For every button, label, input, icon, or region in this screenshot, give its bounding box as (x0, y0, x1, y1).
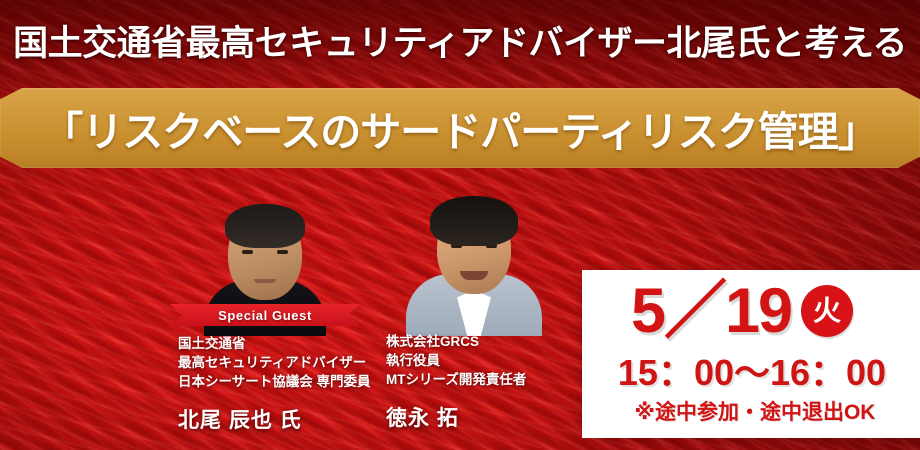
speaker-2-role: 株式会社GRCS 執行役員 MTシリーズ開発責任者 (386, 332, 526, 389)
speaker-2-photo (404, 176, 544, 336)
speaker-card-2: 株式会社GRCS 執行役員 MTシリーズ開発責任者 徳永 拓 (378, 176, 578, 336)
page-title: 国土交通省最高セキュリティアドバイザー北尾氏と考える (0, 12, 920, 68)
speaker-1-name: 北尾 辰也 氏 (178, 404, 302, 434)
event-date: 5／19 (631, 280, 791, 343)
speaker-2-collar (457, 290, 491, 336)
speaker-1-org-line3: 日本シーサート協議会 専門委員 (178, 372, 370, 391)
speaker-1-hair (225, 204, 305, 248)
speaker-1-role: 国土交通省 最高セキュリティアドバイザー 日本シーサート協議会 専門委員 (178, 334, 370, 391)
special-guest-badge: Special Guest (170, 304, 360, 326)
speaker-2-name: 徳永 拓 (386, 402, 459, 432)
speaker-card-1: Special Guest 国土交通省 最高セキュリティアドバイザー 日本シーサ… (170, 186, 380, 336)
date-row: 5／19 火 (582, 274, 902, 348)
speaker-2-hair (430, 196, 518, 246)
speaker-2-org-line2: 執行役員 (386, 351, 526, 370)
speaker-2-org-line3: MTシリーズ開発責任者 (386, 370, 526, 389)
webinar-banner: 国土交通省最高セキュリティアドバイザー北尾氏と考える 「リスクベースのサードパー… (0, 0, 920, 450)
speaker-2-name-box: 徳永 拓 (386, 402, 459, 432)
speaker-2-org-line1: 株式会社GRCS (386, 332, 526, 351)
speaker-1-mouth (254, 279, 276, 283)
speaker-1-org-line2: 最高セキュリティアドバイザー (178, 353, 370, 372)
speaker-1-eye-left (242, 250, 253, 254)
attendance-note: ※途中参加・途中退出OK (582, 394, 920, 428)
day-of-week-badge: 火 (801, 285, 853, 337)
speaker-1-name-box: 北尾 辰也 氏 (178, 404, 302, 434)
ribbon-banner: 「リスクベースのサードパーティリスク管理」 (0, 88, 920, 168)
ribbon-title: 「リスクベースのサードパーティリスク管理」 (0, 88, 920, 168)
speaker-1-org-line1: 国土交通省 (178, 334, 370, 353)
schedule-card: 5／19 火 15：00〜16：00 ※途中参加・途中退出OK (582, 270, 920, 438)
event-time: 15：00〜16：00 (582, 348, 920, 392)
speaker-1-eye-right (277, 250, 288, 254)
speaker-2-mouth (460, 271, 488, 280)
